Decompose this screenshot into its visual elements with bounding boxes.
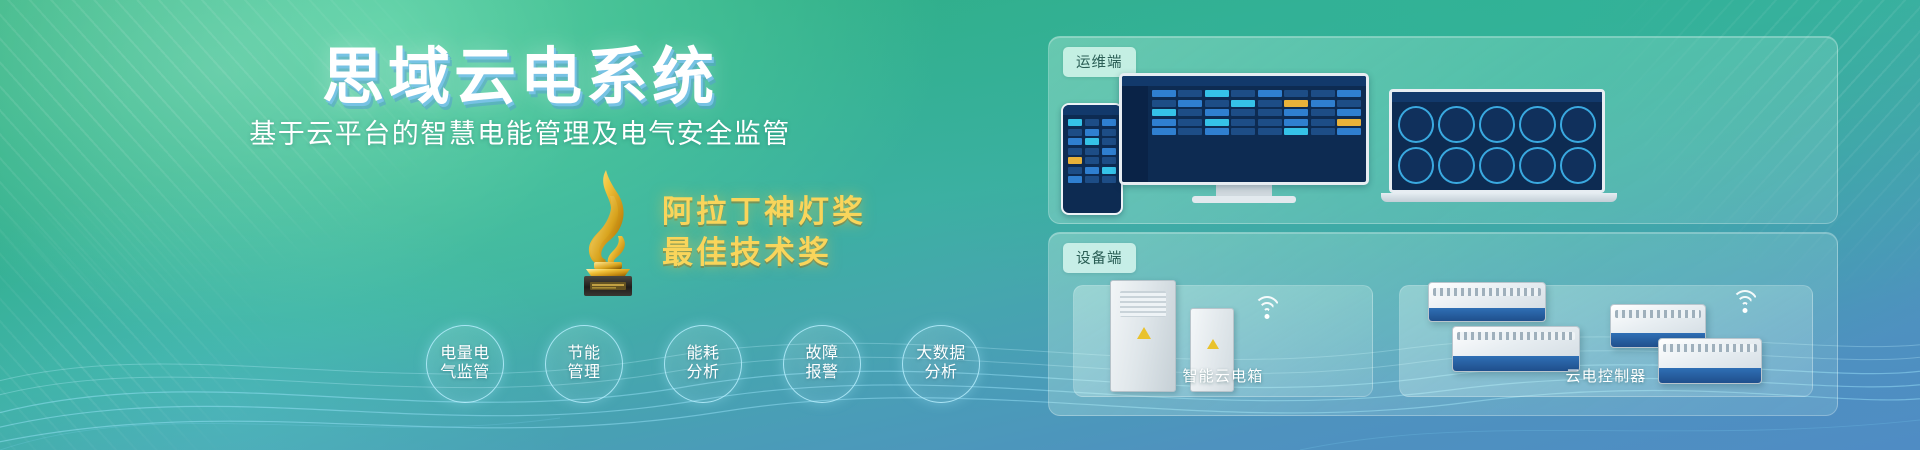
trophy-icon [562,166,652,298]
device-panel-tag: 设备端 [1063,243,1136,273]
device-caption-controller: 云电控制器 [1400,365,1812,386]
feature-label-1: 节能管理 [553,345,615,382]
feature-label-4: 大数据分析 [910,345,972,382]
page-subtitle: 基于云平台的智慧电能管理及电气安全监管 [0,112,1040,151]
ops-panel: 运维端 [1048,36,1838,224]
device-card-cabinet[interactable]: 智能云电箱 [1073,285,1373,397]
page-title: 思域云电系统 [0,26,1040,116]
device-caption-cabinet: 智能云电箱 [1074,365,1372,386]
device-panel: 设备端 智能云电箱 云电控制器 [1048,232,1838,416]
feature-circle-2[interactable]: 能耗分析 [664,325,742,403]
feature-circle-3[interactable]: 故障报警 [783,325,861,403]
controller-icon-top [1428,282,1546,322]
feature-circle-4[interactable]: 大数据分析 [902,325,980,403]
feature-label-0: 电量电气监管 [434,345,496,382]
feature-circle-1[interactable]: 节能管理 [545,325,623,403]
wifi-icon-controller [1730,290,1760,314]
device-card-controller[interactable]: 云电控制器 [1399,285,1813,397]
award-block: 阿拉丁神灯奖 最佳技术奖 [0,178,1040,303]
mobile-phone-device [1061,103,1123,215]
feature-label-3: 故障报警 [791,345,853,382]
feature-circles: 电量电气监管 节能管理 能耗分析 故障报警 大数据分析 [0,325,1040,429]
wifi-icon [1252,296,1282,320]
award-line-1: 阿拉丁神灯奖 [662,192,866,233]
desktop-monitor-device [1119,73,1369,203]
feature-circle-0[interactable]: 电量电气监管 [426,325,504,403]
award-text: 阿拉丁神灯奖 最佳技术奖 [662,192,866,274]
laptop-device [1381,89,1617,209]
award-line-2: 最佳技术奖 [662,233,866,274]
left-content: 思域云电系统 基于云平台的智慧电能管理及电气安全监管 [0,0,1040,450]
feature-label-2: 能耗分析 [672,345,734,382]
promotional-banner: 思域云电系统 基于云平台的智慧电能管理及电气安全监管 [0,0,1920,450]
